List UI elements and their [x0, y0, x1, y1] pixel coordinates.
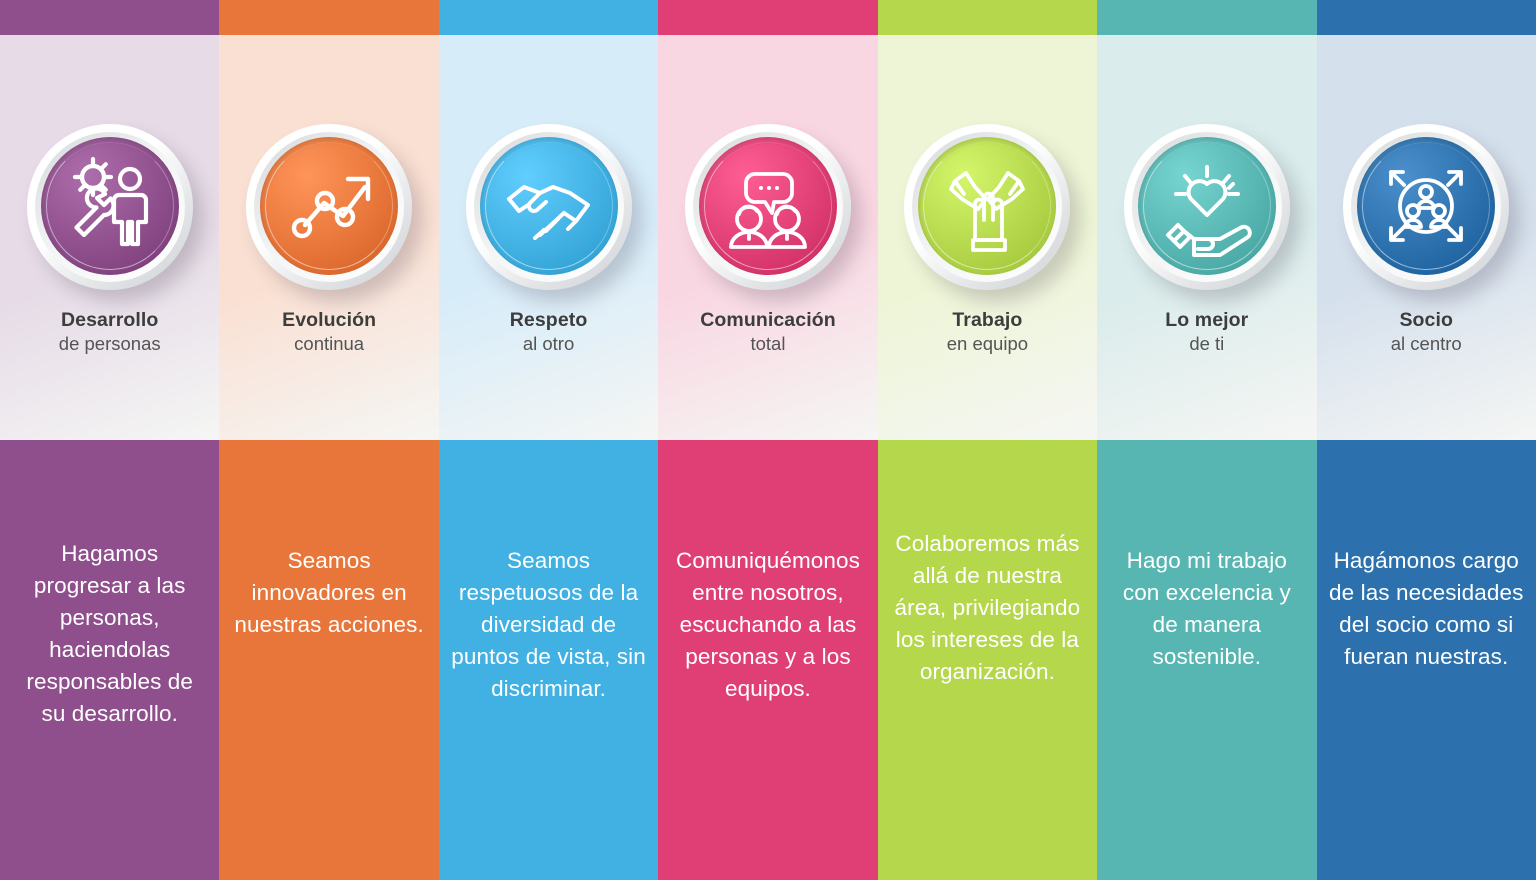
- value-statement: Colaboremos más allá de nuestra área, pr…: [890, 528, 1085, 688]
- three-hands-together-icon: [918, 137, 1056, 275]
- value-statement: Comuniquémonos entre nosotros, escuchand…: [670, 545, 865, 705]
- badge-panel: Lo mejor de ti: [1097, 35, 1316, 440]
- value-column-evolucion: Evolución continua Seamos innovadores en…: [219, 0, 438, 880]
- value-title: Lo mejor: [1105, 308, 1308, 332]
- badge: [466, 124, 632, 290]
- value-title: Socio: [1325, 308, 1528, 332]
- value-column-comunicacion: Comunicación total Comuniquémonos entre …: [658, 0, 877, 880]
- value-subtitle: de ti: [1105, 332, 1308, 356]
- growth-arrow-chart-icon: [260, 137, 398, 275]
- badge-disc: [41, 137, 179, 275]
- badge-disc: [260, 137, 398, 275]
- people-group-arrows-icon: [1357, 137, 1495, 275]
- badge-disc: [918, 137, 1056, 275]
- value-statement: Hagámonos cargo de las necesidades del s…: [1329, 545, 1524, 673]
- badge: [685, 124, 851, 290]
- statement-panel: Hagamos progresar a las personas, hacien…: [0, 440, 219, 880]
- value-statement: Seamos respetuosos de la diversidad de p…: [451, 545, 646, 705]
- badge-panel: Desarrollo de personas: [0, 35, 219, 440]
- gear-wrench-person-icon: [41, 137, 179, 275]
- accent-strip: [878, 0, 1097, 35]
- badge-titles: Desarrollo de personas: [0, 308, 219, 356]
- badge-panel: Socio al centro: [1317, 35, 1536, 440]
- value-statement: Hago mi trabajo con excelencia y de mane…: [1109, 545, 1304, 673]
- badge-titles: Comunicación total: [658, 308, 877, 356]
- badge: [1124, 124, 1290, 290]
- badge: [1343, 124, 1509, 290]
- value-subtitle: de personas: [8, 332, 211, 356]
- value-column-lo-mejor: Lo mejor de ti Hago mi trabajo con excel…: [1097, 0, 1316, 880]
- accent-strip: [219, 0, 438, 35]
- heart-in-hand-icon: [1138, 137, 1276, 275]
- statement-panel: Seamos innovadores en nuestras acciones.: [219, 440, 438, 880]
- value-subtitle: en equipo: [886, 332, 1089, 356]
- two-people-speech-bubble-icon: [699, 137, 837, 275]
- statement-panel: Hagámonos cargo de las necesidades del s…: [1317, 440, 1536, 880]
- accent-strip: [1097, 0, 1316, 35]
- statement-panel: Hago mi trabajo con excelencia y de mane…: [1097, 440, 1316, 880]
- badge-titles: Socio al centro: [1317, 308, 1536, 356]
- badge-disc: [1357, 137, 1495, 275]
- value-subtitle: total: [666, 332, 869, 356]
- badge-panel: Evolución continua: [219, 35, 438, 440]
- statement-panel: Comuniquémonos entre nosotros, escuchand…: [658, 440, 877, 880]
- handshake-icon: [480, 137, 618, 275]
- value-statement: Hagamos progresar a las personas, hacien…: [12, 538, 207, 730]
- accent-strip: [0, 0, 219, 35]
- value-subtitle: al otro: [447, 332, 650, 356]
- value-column-socio: Socio al centro Hagámonos cargo de las n…: [1317, 0, 1536, 880]
- value-statement: Seamos innovadores en nuestras acciones.: [231, 545, 426, 641]
- value-subtitle: continua: [227, 332, 430, 356]
- badge: [27, 124, 193, 290]
- value-title: Desarrollo: [8, 308, 211, 332]
- value-column-respeto: Respeto al otro Seamos respetuosos de la…: [439, 0, 658, 880]
- badge-titles: Evolución continua: [219, 308, 438, 356]
- badge-titles: Respeto al otro: [439, 308, 658, 356]
- value-title: Trabajo: [886, 308, 1089, 332]
- value-title: Comunicación: [666, 308, 869, 332]
- accent-strip: [658, 0, 877, 35]
- value-column-desarrollo: Desarrollo de personas Hagamos progresar…: [0, 0, 219, 880]
- value-title: Respeto: [447, 308, 650, 332]
- badge: [904, 124, 1070, 290]
- badge-titles: Lo mejor de ti: [1097, 308, 1316, 356]
- badge-panel: Comunicación total: [658, 35, 877, 440]
- badge-disc: [1138, 137, 1276, 275]
- accent-strip: [1317, 0, 1536, 35]
- badge-disc: [480, 137, 618, 275]
- badge-titles: Trabajo en equipo: [878, 308, 1097, 356]
- value-column-trabajo: Trabajo en equipo Colaboremos más allá d…: [878, 0, 1097, 880]
- accent-strip: [439, 0, 658, 35]
- badge-panel: Respeto al otro: [439, 35, 658, 440]
- badge-panel: Trabajo en equipo: [878, 35, 1097, 440]
- statement-panel: Colaboremos más allá de nuestra área, pr…: [878, 440, 1097, 880]
- badge-disc: [699, 137, 837, 275]
- value-subtitle: al centro: [1325, 332, 1528, 356]
- badge: [246, 124, 412, 290]
- statement-panel: Seamos respetuosos de la diversidad de p…: [439, 440, 658, 880]
- value-title: Evolución: [227, 308, 430, 332]
- values-infographic-board: Desarrollo de personas Hagamos progresar…: [0, 0, 1536, 880]
